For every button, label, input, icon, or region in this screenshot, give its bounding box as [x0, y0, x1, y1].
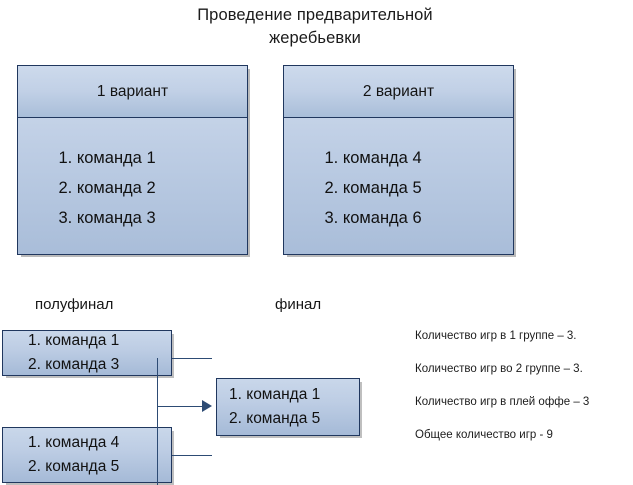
group-box-variant-1-body: 1. команда 1 2. команда 2 3. команда 3 — [18, 119, 247, 254]
semifinal-box-1[interactable]: 1. команда 1 2. команда 3 — [2, 330, 172, 376]
group-box-variant-2[interactable]: 2 вариант 1. команда 4 2. команда 5 3. к… — [283, 65, 514, 255]
group-2-team-3: 3. команда 6 — [325, 203, 473, 233]
stat-line-group-1: Количество игр в 1 группе – 3. — [415, 320, 633, 353]
slide-canvas: Проведение предварительной жеребьевки 1 … — [0, 0, 633, 485]
connector-vertical-spine — [157, 358, 158, 485]
final-team-2: 2. команда 5 — [229, 407, 347, 431]
stat-line-group-2: Количество игр во 2 группе – 3. — [415, 353, 633, 386]
group-2-team-1: 1. команда 4 — [325, 143, 473, 173]
connector-arrow-icon — [202, 400, 212, 412]
semifinal-box-2[interactable]: 1. команда 4 2. команда 5 — [2, 427, 172, 483]
page-title-line-2: жеребьевки — [120, 27, 510, 50]
semifinal-1-team-2: 2. команда 3 — [28, 353, 146, 377]
group-2-team-2: 2. команда 5 — [325, 173, 473, 203]
final-team-1: 1. команда 1 — [229, 383, 347, 407]
semifinal-1-team-1: 1. команда 1 — [28, 329, 146, 353]
group-1-team-2: 2. команда 2 — [59, 173, 207, 203]
page-title-line-1: Проведение предварительной — [120, 4, 510, 27]
final-box[interactable]: 1. команда 1 2. команда 5 — [216, 378, 360, 436]
connector-final-horizontal — [157, 406, 207, 407]
connector-semifinal-2-horizontal — [172, 455, 212, 456]
stage-label-semifinal: полуфинал — [35, 296, 113, 313]
stat-line-playoff: Количество игр в плей оффе – 3 — [415, 386, 633, 419]
stage-label-final: финал — [275, 296, 321, 313]
group-box-variant-1[interactable]: 1 вариант 1. команда 1 2. команда 2 3. к… — [17, 65, 248, 255]
group-box-variant-2-header: 2 вариант — [284, 66, 513, 118]
page-title: Проведение предварительной жеребьевки — [120, 4, 510, 50]
connector-semifinal-1-horizontal — [172, 358, 212, 359]
group-box-variant-1-header: 1 вариант — [18, 66, 247, 118]
stats-list: Количество игр в 1 группе – 3. Количеств… — [415, 320, 633, 452]
group-1-team-3: 3. команда 3 — [59, 203, 207, 233]
semifinal-2-team-2: 2. команда 5 — [28, 455, 146, 479]
stat-line-total: Общее количество игр - 9 — [415, 419, 633, 452]
group-box-variant-2-body: 1. команда 4 2. команда 5 3. команда 6 — [284, 119, 513, 254]
semifinal-2-team-1: 1. команда 4 — [28, 431, 146, 455]
group-1-team-1: 1. команда 1 — [59, 143, 207, 173]
